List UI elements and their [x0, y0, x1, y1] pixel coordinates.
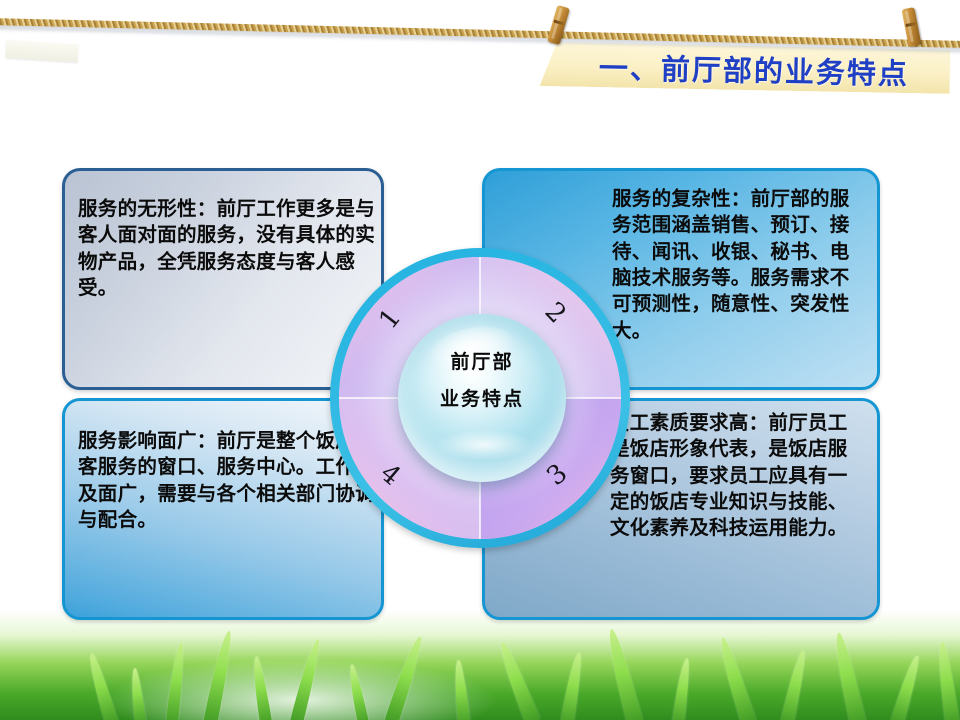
center-label-line1: 前厅部: [398, 344, 566, 381]
slide-canvas: 一、前厅部的业务特点 服务的无形性：前厅工作更多是与客人面对面的服务，没有具体的…: [0, 0, 960, 720]
feature-text-top-right: 服务的复杂性：前厅部的服务范围涵盖销售、预订、接待、闻讯、收银、秘书、电脑技术服…: [612, 186, 864, 344]
page-title: 一、前厅部的业务特点: [556, 46, 953, 92]
paper-scrap-icon: [6, 40, 79, 62]
center-diagram: 1 2 3 4 前厅部 业务特点: [330, 248, 630, 548]
grass-footer: [0, 610, 960, 720]
grass-glow: [0, 610, 960, 720]
center-sphere-label: 前厅部 业务特点: [398, 344, 566, 418]
center-label-line2: 业务特点: [398, 381, 566, 418]
feature-text-bottom-right: 员工素质要求高：前厅员工是饭店形象代表，是饭店服务窗口，要求员工应具有一定的饭店…: [610, 410, 866, 542]
sphere-highlight-bottom: [436, 430, 532, 460]
